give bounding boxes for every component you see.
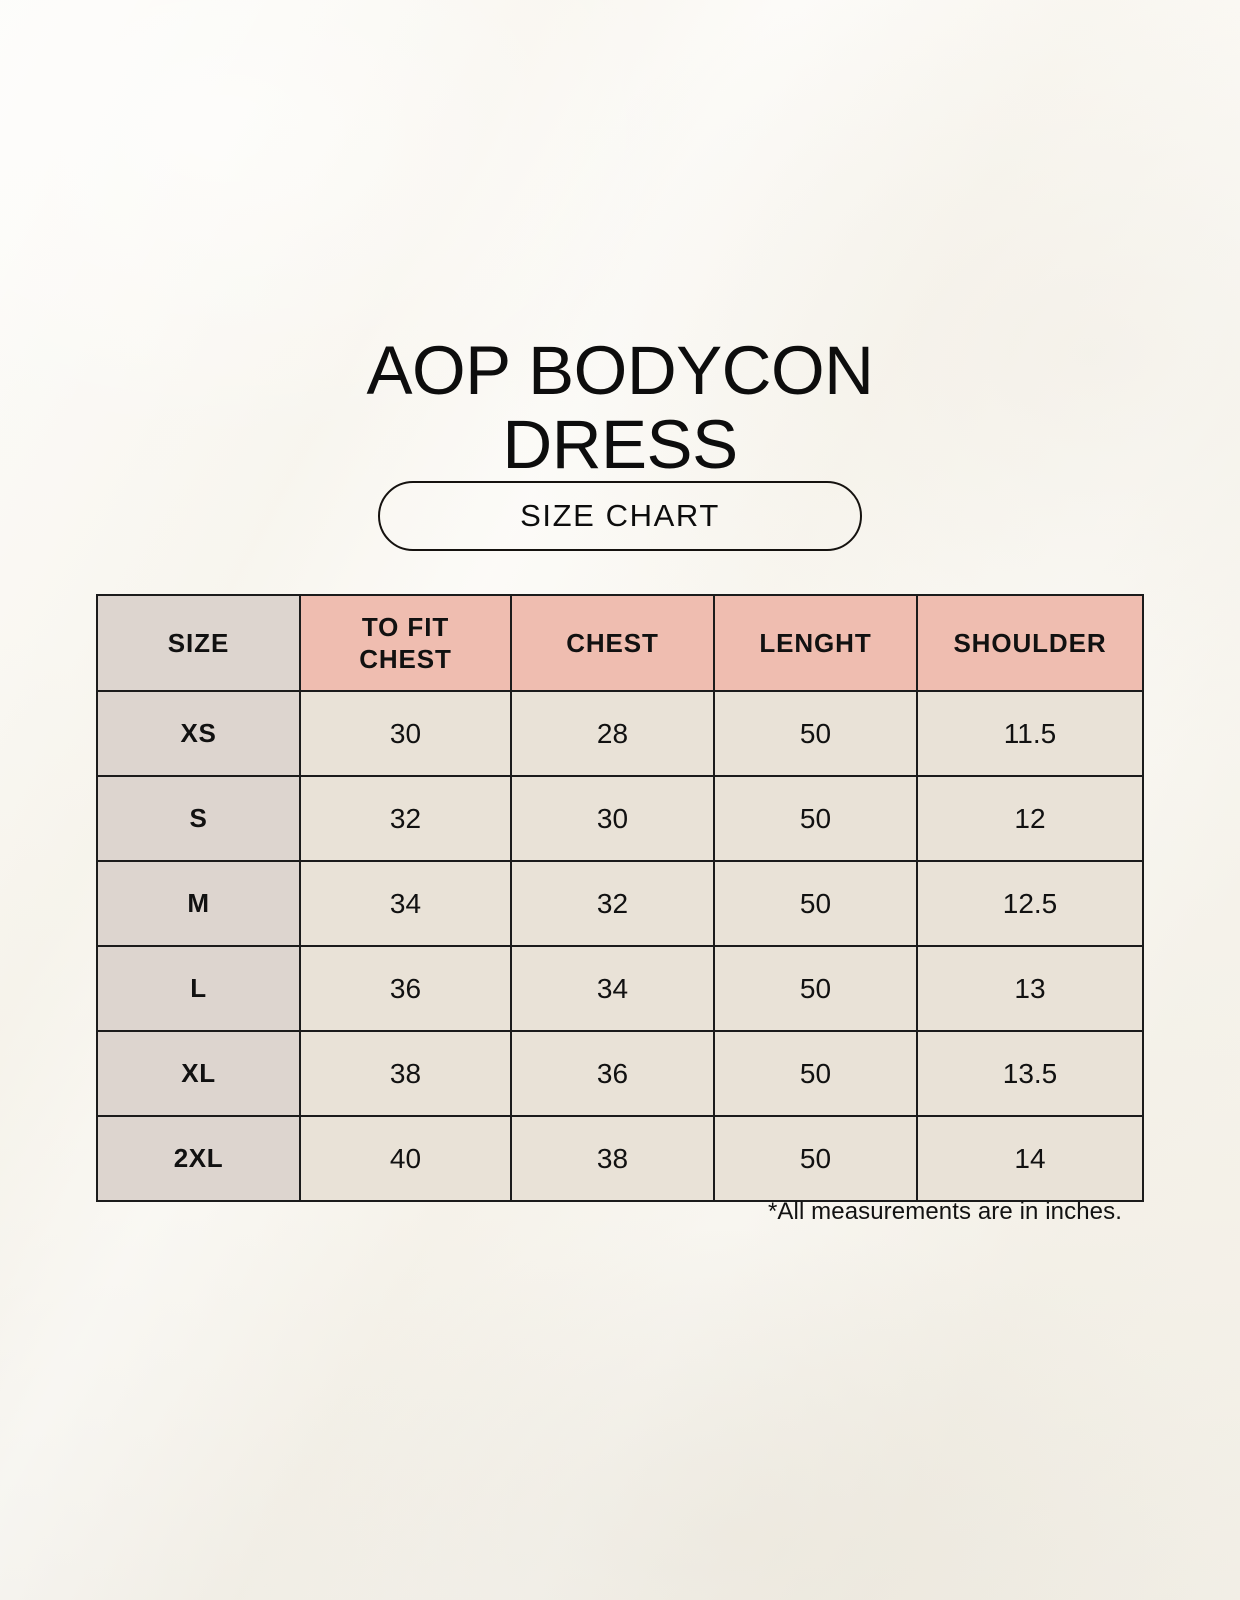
cell-lenght: 50 [714,946,917,1031]
table-row: 2XL 40 38 50 14 [97,1116,1143,1201]
cell-to-fit-chest: 30 [300,691,511,776]
cell-to-fit-chest: 32 [300,776,511,861]
cell-shoulder: 13.5 [917,1031,1143,1116]
size-chart-table-container: SIZE TO FIT CHEST CHEST LENGHT SHOULDER [96,594,1142,1202]
cell-lenght: 50 [714,776,917,861]
measurements-footnote: *All measurements are in inches. [96,1198,1122,1226]
page-title: AOP BODYCON DRESS [0,334,1240,482]
cell-size: XS [97,691,300,776]
cell-chest: 32 [511,861,714,946]
table-row: XS 30 28 50 11.5 [97,691,1143,776]
table-row: L 36 34 50 13 [97,946,1143,1031]
cell-chest: 28 [511,691,714,776]
table-header-row: SIZE TO FIT CHEST CHEST LENGHT SHOULDER [97,595,1143,691]
size-chart-table: SIZE TO FIT CHEST CHEST LENGHT SHOULDER [96,594,1144,1202]
cell-size: 2XL [97,1116,300,1201]
cell-to-fit-chest: 40 [300,1116,511,1201]
size-chart-page: AOP BODYCON DRESS SIZE CHART SIZE TO FIT [0,0,1240,1600]
cell-shoulder: 11.5 [917,691,1143,776]
cell-size: XL [97,1031,300,1116]
cell-lenght: 50 [714,1116,917,1201]
column-header-chest: CHEST [511,595,714,691]
cell-size: L [97,946,300,1031]
cell-size: M [97,861,300,946]
column-header-shoulder: SHOULDER [917,595,1143,691]
cell-to-fit-chest: 34 [300,861,511,946]
cell-chest: 34 [511,946,714,1031]
cell-shoulder: 14 [917,1116,1143,1201]
cell-to-fit-chest: 36 [300,946,511,1031]
table-row: M 34 32 50 12.5 [97,861,1143,946]
cell-chest: 36 [511,1031,714,1116]
cell-chest: 30 [511,776,714,861]
column-header-to-fit-chest: TO FIT CHEST [300,595,511,691]
cell-to-fit-chest: 38 [300,1031,511,1116]
cell-shoulder: 12 [917,776,1143,861]
cell-shoulder: 13 [917,946,1143,1031]
table-body: XS 30 28 50 11.5 S 32 30 50 12 M 34 32 [97,691,1143,1201]
cell-size: S [97,776,300,861]
size-chart-badge: SIZE CHART [378,481,862,551]
cell-lenght: 50 [714,1031,917,1116]
cell-lenght: 50 [714,861,917,946]
column-header-size: SIZE [97,595,300,691]
cell-lenght: 50 [714,691,917,776]
cell-chest: 38 [511,1116,714,1201]
size-chart-badge-row: SIZE CHART [0,481,1240,551]
cell-shoulder: 12.5 [917,861,1143,946]
column-header-lenght: LENGHT [714,595,917,691]
table-row: XL 38 36 50 13.5 [97,1031,1143,1116]
table-row: S 32 30 50 12 [97,776,1143,861]
table-header: SIZE TO FIT CHEST CHEST LENGHT SHOULDER [97,595,1143,691]
